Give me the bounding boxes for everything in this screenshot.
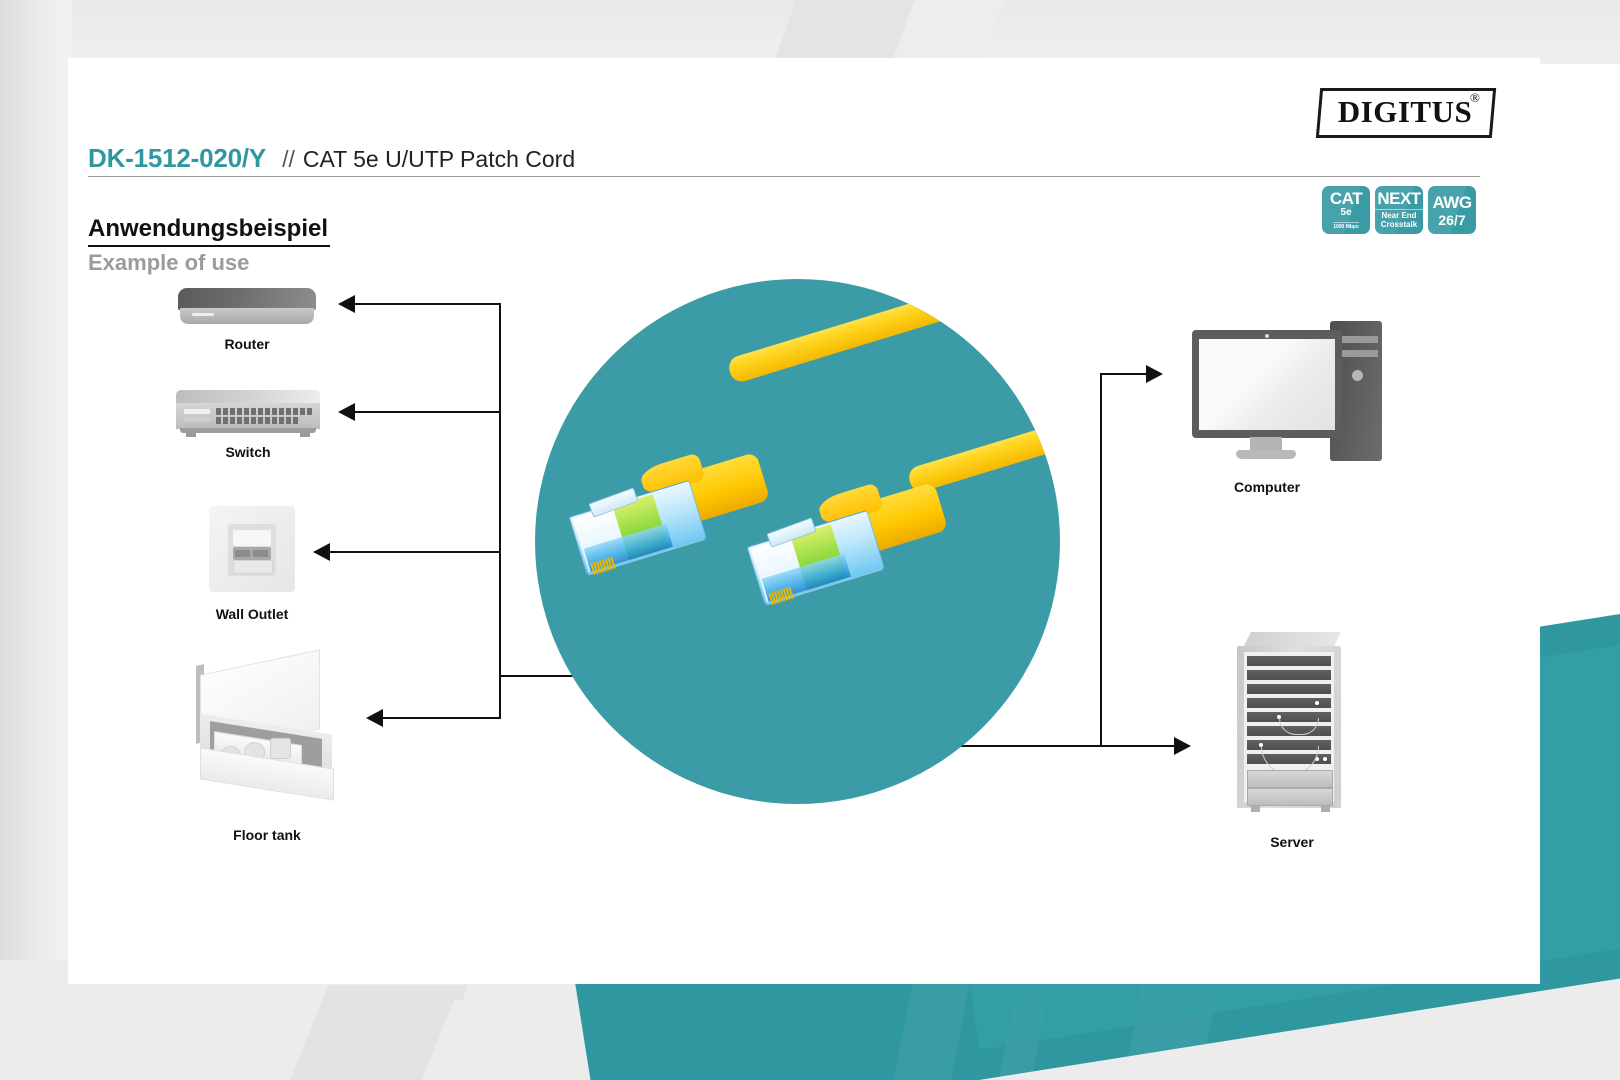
- switch-ports: [216, 408, 312, 424]
- server-front-panel-2: [1247, 788, 1333, 806]
- switch-led-1: [184, 409, 210, 414]
- server-slot-2: [1247, 670, 1331, 680]
- wall-outlet-base: [233, 560, 273, 574]
- router-icon: [178, 288, 316, 328]
- rj45-connector-lower: [747, 510, 886, 606]
- connector-floor-tank-arrow: [366, 709, 383, 727]
- server-port-led-1: [1315, 701, 1319, 705]
- connector-computer-line: [1100, 373, 1148, 375]
- server-slot-1: [1247, 656, 1331, 666]
- switch-label: Switch: [176, 444, 320, 460]
- computer-monitor-stand: [1236, 450, 1296, 459]
- switch-top-shell: [176, 390, 320, 404]
- server-slot-3: [1247, 684, 1331, 694]
- computer-monitor-screen: [1199, 339, 1335, 430]
- wall-outlet-rj45-jack: [233, 547, 271, 560]
- switch-led-2: [184, 417, 210, 422]
- server-label: Server: [1212, 834, 1372, 850]
- router-led: [192, 313, 214, 316]
- cord-jacket-lower: [906, 394, 1060, 495]
- switch-foot-left: [186, 433, 196, 437]
- connector-floor-tank-line: [383, 717, 501, 719]
- switch-icon: [176, 390, 320, 438]
- connector-left-bus: [499, 303, 501, 717]
- switch-foot-right: [300, 433, 310, 437]
- application-diagram: Router Switch Wall Outlet: [0, 0, 1620, 1080]
- connector-wall-outlet-line: [330, 551, 501, 553]
- server-port-led-5: [1323, 757, 1327, 761]
- rj45-connector-upper: [569, 480, 708, 576]
- connector-router-arrow: [338, 295, 355, 313]
- server-front-panel-1: [1247, 770, 1333, 788]
- wall-outlet-icon: [209, 506, 295, 592]
- computer-icon: [1192, 330, 1382, 462]
- server-icon: [1237, 632, 1347, 814]
- connector-server-arrow: [1174, 737, 1191, 755]
- product-image-circle: [535, 279, 1060, 804]
- floor-tank-data-socket: [270, 738, 291, 759]
- computer-webcam-icon: [1265, 334, 1269, 338]
- router-label: Router: [178, 336, 316, 352]
- floor-tank-icon: [192, 662, 342, 802]
- computer-power-button: [1352, 370, 1363, 381]
- cord-jacket-upper: [726, 279, 1060, 384]
- connector-switch-arrow: [338, 403, 355, 421]
- floor-tank-label: Floor tank: [192, 827, 342, 843]
- connector-wall-outlet-arrow: [313, 543, 330, 561]
- wall-outlet-shutter: [233, 530, 271, 546]
- computer-label: Computer: [1192, 479, 1342, 495]
- connector-computer-arrow: [1146, 365, 1163, 383]
- connector-switch-line: [355, 411, 501, 413]
- server-foot-right: [1321, 806, 1330, 812]
- connector-right-bus: [1100, 373, 1102, 747]
- connector-server-line: [1100, 745, 1176, 747]
- connector-router-line: [355, 303, 501, 305]
- switch-base: [180, 428, 316, 433]
- router-top-shell: [178, 288, 316, 310]
- router-body: [180, 308, 314, 324]
- wall-outlet-label: Wall Outlet: [190, 606, 314, 622]
- server-foot-left: [1251, 806, 1260, 812]
